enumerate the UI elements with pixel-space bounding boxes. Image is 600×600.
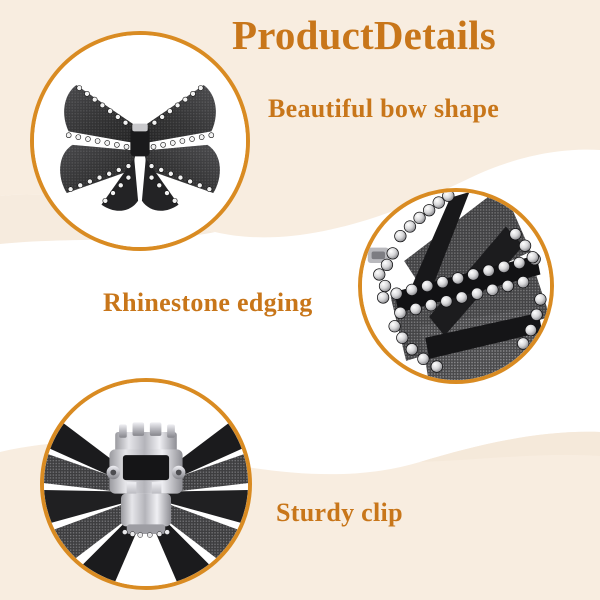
feature-circle-bow-shape: [30, 31, 250, 251]
page-title: ProductDetails: [232, 14, 592, 57]
metal-alligator-clip-closeup-photo: [44, 382, 248, 586]
black-mesh-rhinestone-bow-photo: [34, 35, 246, 247]
rhinestone-edging-closeup-photo: [362, 192, 550, 380]
feature-caption-rhinestone-edging: Rhinestone edging: [103, 288, 313, 318]
feature-caption-sturdy-clip: Sturdy clip: [276, 498, 403, 528]
product-details-infographic: ProductDetails: [0, 0, 600, 600]
feature-circle-sturdy-clip: [40, 378, 252, 590]
feature-caption-bow-shape: Beautiful bow shape: [268, 94, 499, 124]
feature-circle-rhinestone-edging: [358, 188, 554, 384]
